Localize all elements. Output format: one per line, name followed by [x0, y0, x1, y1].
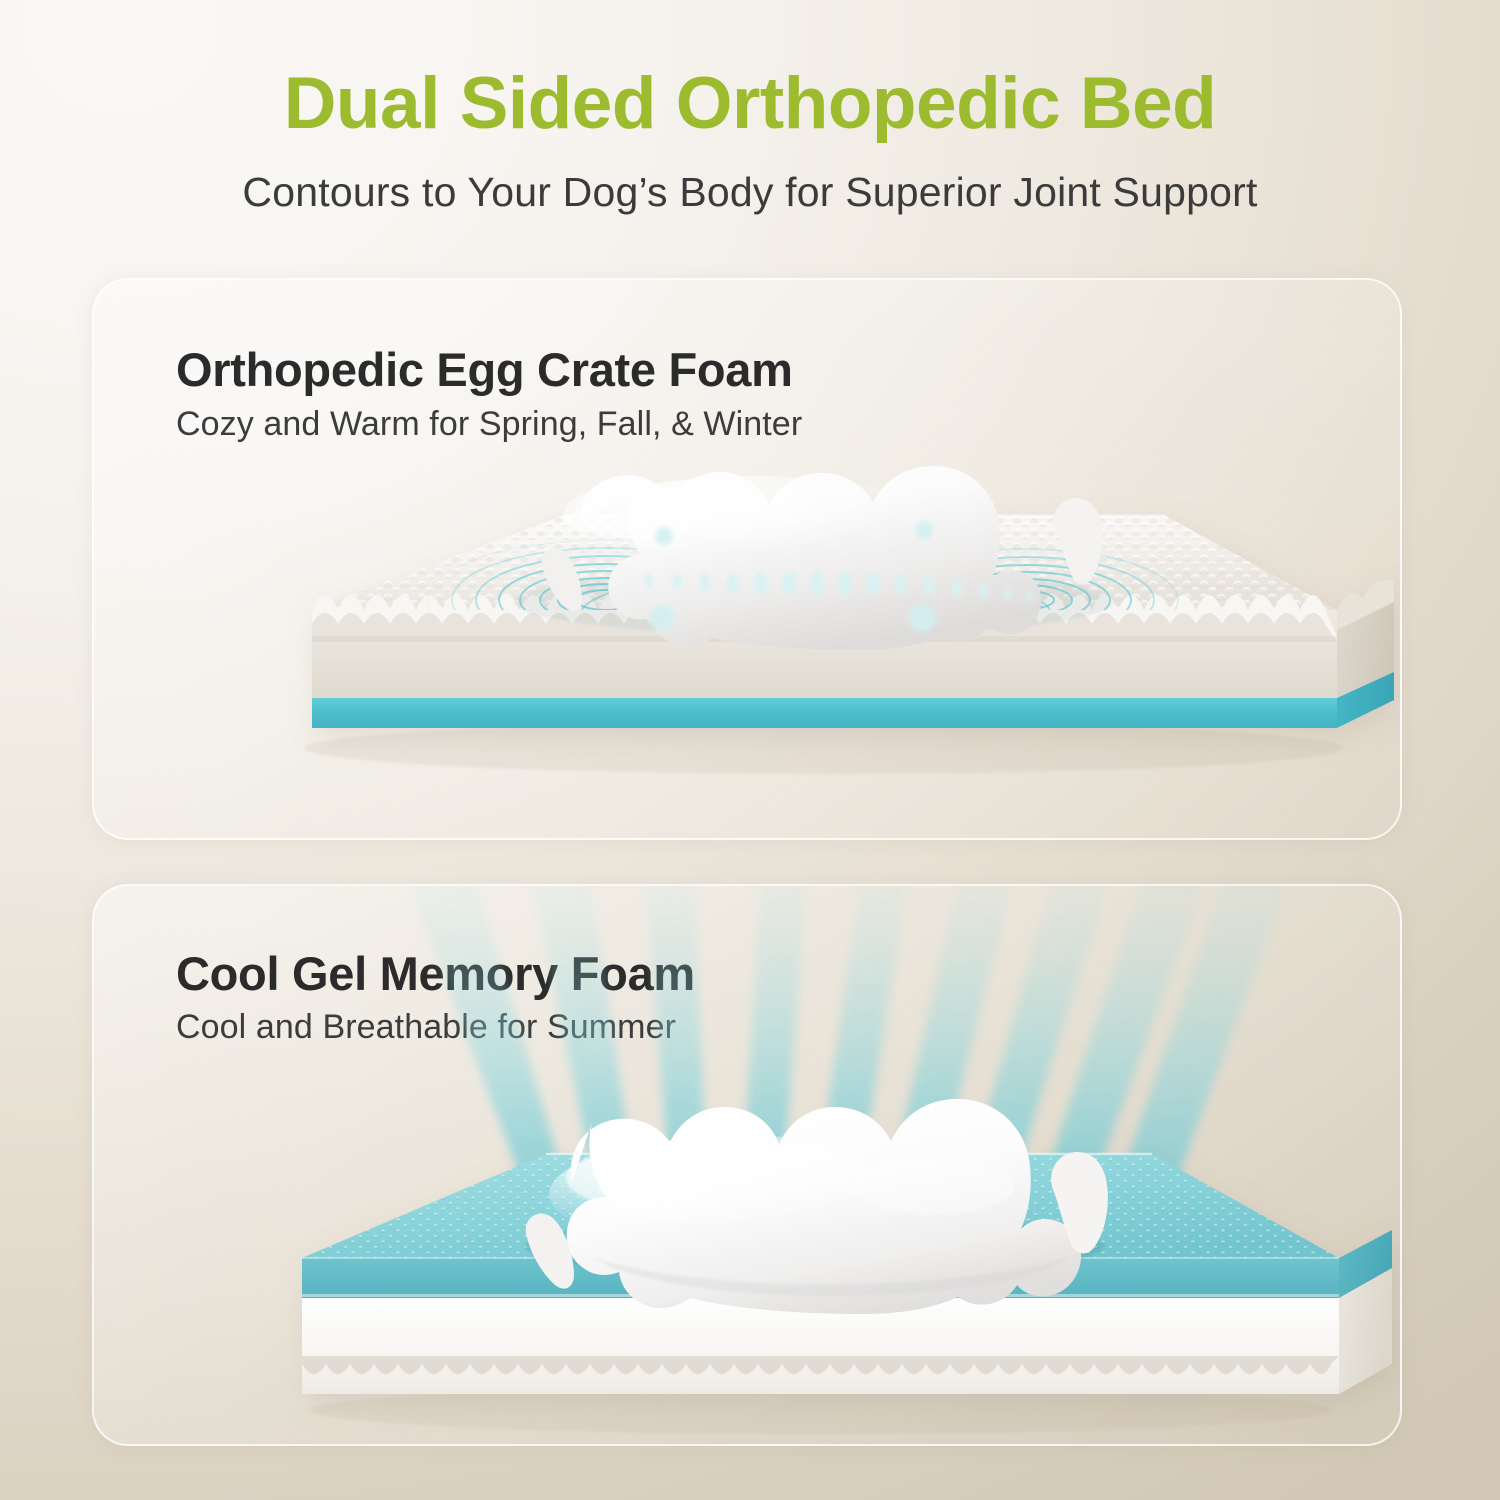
- card-orthopedic-egg-crate-foam: Orthopedic Egg Crate Foam Cozy and Warm …: [92, 278, 1402, 840]
- slab-ground-shadow: [304, 722, 1344, 774]
- illustration-cool-gel-memory-foam: [94, 886, 1402, 1446]
- card-cool-gel-memory-foam: Cool Gel Memory Foam Cool and Breathable…: [92, 884, 1402, 1446]
- header: Dual Sided Orthopedic Bed Contours to Yo…: [0, 0, 1500, 216]
- page-title: Dual Sided Orthopedic Bed: [0, 66, 1500, 143]
- illustration-egg-crate-foam: [94, 280, 1402, 840]
- page-subtitle: Contours to Your Dog’s Body for Superior…: [0, 169, 1500, 216]
- teal-base-stripe-front: [312, 698, 1337, 728]
- scalloped-bottom-edge: [302, 1356, 1339, 1374]
